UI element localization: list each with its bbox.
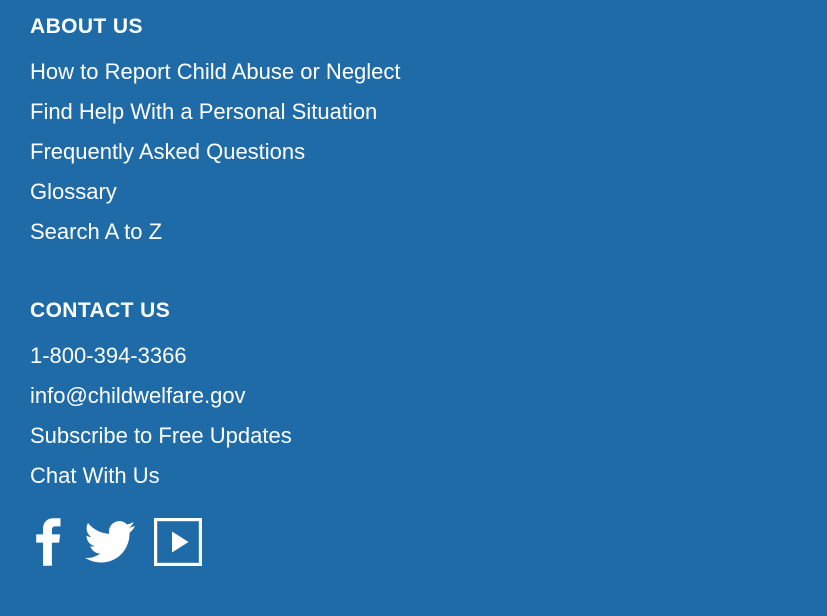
link-search-a-to-z[interactable]: Search A to Z: [30, 212, 401, 252]
link-chat-with-us[interactable]: Chat With Us: [30, 456, 292, 496]
youtube-play-icon: [154, 518, 202, 566]
about-us-link-list: How to Report Child Abuse or Neglect Fin…: [30, 52, 401, 252]
link-email-address[interactable]: info@childwelfare.gov: [30, 376, 292, 416]
contact-us-link-list: 1-800-394-3366 info@childwelfare.gov Sub…: [30, 336, 292, 496]
link-how-to-report-child-abuse-or-neglect[interactable]: How to Report Child Abuse or Neglect: [30, 52, 401, 92]
facebook-link[interactable]: [28, 514, 70, 570]
link-subscribe-to-free-updates[interactable]: Subscribe to Free Updates: [30, 416, 292, 456]
twitter-icon: [85, 521, 135, 563]
link-phone-number[interactable]: 1-800-394-3366: [30, 336, 292, 376]
footer-section-contact: CONTACT US 1-800-394-3366 info@childwelf…: [30, 298, 292, 496]
twitter-link[interactable]: [80, 514, 140, 570]
link-glossary[interactable]: Glossary: [30, 172, 401, 212]
contact-us-heading: CONTACT US: [30, 298, 292, 324]
social-media-links: [28, 514, 206, 570]
site-footer: ABOUT US How to Report Child Abuse or Ne…: [0, 0, 827, 616]
youtube-link[interactable]: [150, 514, 206, 570]
link-find-help-with-a-personal-situation[interactable]: Find Help With a Personal Situation: [30, 92, 401, 132]
facebook-icon: [35, 517, 63, 567]
about-us-heading: ABOUT US: [30, 14, 401, 40]
footer-section-about: ABOUT US How to Report Child Abuse or Ne…: [30, 14, 401, 252]
link-frequently-asked-questions[interactable]: Frequently Asked Questions: [30, 132, 401, 172]
